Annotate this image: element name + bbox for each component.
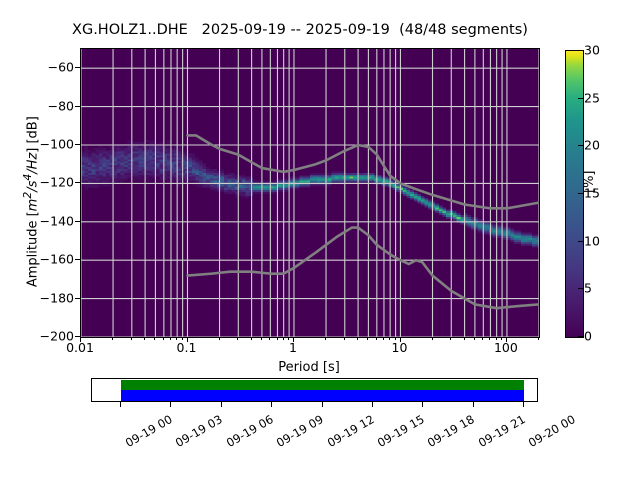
timeline-ticks: 09-19 0009-19 0309-19 0609-19 0909-19 12… <box>0 0 640 480</box>
timeline-tick-mark <box>523 402 524 407</box>
timeline-tick-mark <box>422 402 423 407</box>
timeline-tick-label: 09-20 00 <box>526 412 578 450</box>
timeline-tick-label: 09-19 09 <box>274 412 326 450</box>
timeline-tick-label: 09-19 06 <box>224 412 276 450</box>
timeline-tick-label: 09-19 15 <box>375 412 427 450</box>
timeline-tick-label: 09-19 03 <box>173 412 225 450</box>
ppsd-figure: XG.HOLZ1..DHE 2025-09-19 -- 2025-09-19 (… <box>0 0 640 480</box>
timeline-tick-mark <box>120 402 121 407</box>
timeline-tick-label: 09-19 21 <box>476 412 528 450</box>
timeline-tick-mark <box>473 402 474 407</box>
timeline-tick-label: 09-19 12 <box>324 412 376 450</box>
timeline-tick-label: 09-19 00 <box>123 412 175 450</box>
timeline-tick-mark <box>322 402 323 407</box>
timeline-tick-mark <box>170 402 171 407</box>
timeline-tick-mark <box>221 402 222 407</box>
timeline-tick-mark <box>271 402 272 407</box>
timeline-tick-mark <box>372 402 373 407</box>
timeline-tick-label: 09-19 18 <box>425 412 477 450</box>
